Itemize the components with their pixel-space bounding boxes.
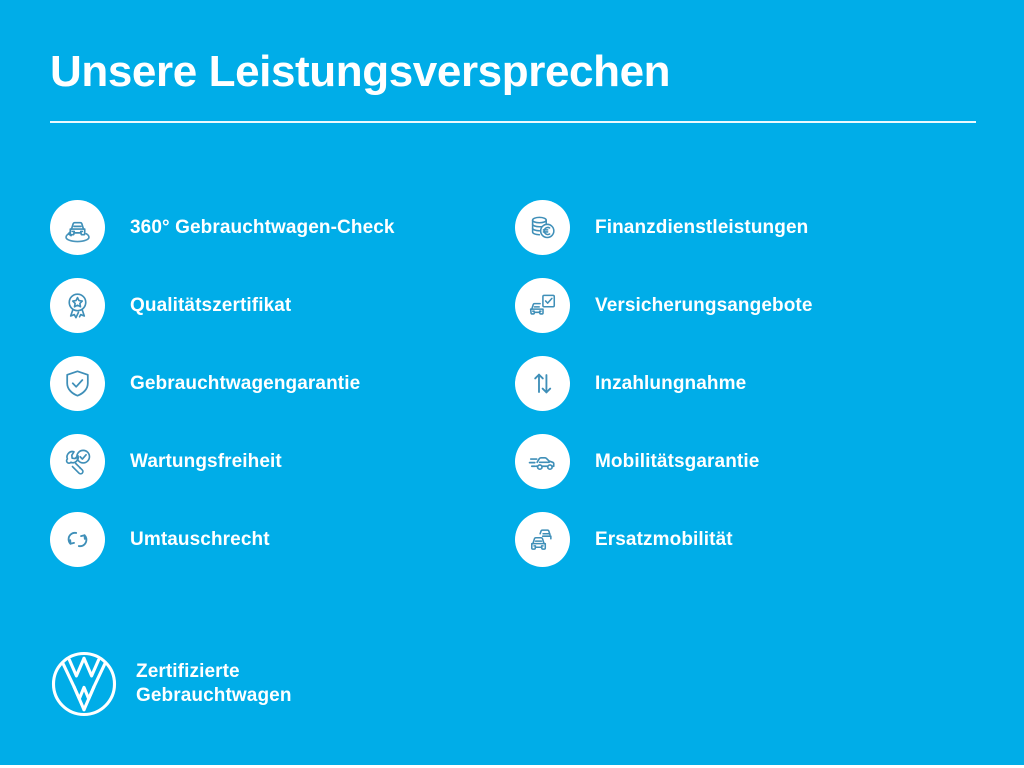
brand-text-line1: Zertifizierte bbox=[136, 660, 292, 684]
exchange-arrows-icon bbox=[50, 512, 105, 567]
car-document-check-icon bbox=[515, 278, 570, 333]
benefit-label: Wartungsfreiheit bbox=[130, 451, 282, 473]
coins-euro-icon bbox=[515, 200, 570, 255]
award-rosette-icon bbox=[50, 278, 105, 333]
volkswagen-logo-icon bbox=[50, 650, 118, 718]
wrench-check-icon bbox=[50, 434, 105, 489]
benefit-label: Ersatzmobilität bbox=[595, 529, 733, 551]
car-motion-icon bbox=[515, 434, 570, 489]
shield-check-icon bbox=[50, 356, 105, 411]
two-cars-icon bbox=[515, 512, 570, 567]
benefit-item-finanzdienstleistungen[interactable]: Finanzdienstleistungen bbox=[515, 200, 980, 255]
benefits-section: 360° Gebrauchtwagen-Check Qualitätszerti… bbox=[50, 200, 980, 567]
benefit-item-qualitaetszertifikat[interactable]: Qualitätszertifikat bbox=[50, 278, 515, 333]
header: Unsere Leistungsversprechen bbox=[50, 48, 976, 123]
up-down-arrows-icon bbox=[515, 356, 570, 411]
title-divider bbox=[50, 121, 976, 123]
brand-lockup: Zertifizierte Gebrauchtwagen bbox=[50, 650, 292, 718]
benefit-label: Mobilitätsgarantie bbox=[595, 451, 759, 473]
car-360-check-icon bbox=[50, 200, 105, 255]
benefit-item-360-check[interactable]: 360° Gebrauchtwagen-Check bbox=[50, 200, 515, 255]
benefit-label: Qualitätszertifikat bbox=[130, 295, 291, 317]
benefit-item-mobilitaetsgarantie[interactable]: Mobilitätsgarantie bbox=[515, 434, 980, 489]
benefit-label: 360° Gebrauchtwagen-Check bbox=[130, 217, 395, 239]
brand-text: Zertifizierte Gebrauchtwagen bbox=[136, 660, 292, 709]
benefit-label: Gebrauchtwagengarantie bbox=[130, 373, 360, 395]
benefit-label: Umtauschrecht bbox=[130, 529, 270, 551]
benefits-left-column: 360° Gebrauchtwagen-Check Qualitätszerti… bbox=[50, 200, 515, 567]
benefit-item-wartungsfreiheit[interactable]: Wartungsfreiheit bbox=[50, 434, 515, 489]
page-title: Unsere Leistungsversprechen bbox=[50, 48, 976, 96]
benefit-item-inzahlungnahme[interactable]: Inzahlungnahme bbox=[515, 356, 980, 411]
benefit-label: Inzahlungnahme bbox=[595, 373, 746, 395]
benefit-item-umtauschrecht[interactable]: Umtauschrecht bbox=[50, 512, 515, 567]
benefit-item-versicherungsangebote[interactable]: Versicherungsangebote bbox=[515, 278, 980, 333]
brand-text-line2: Gebrauchtwagen bbox=[136, 684, 292, 708]
slide-root: Unsere Leistungsversprechen 360° Gebrauc bbox=[0, 0, 1024, 768]
benefits-right-column: Finanzdienstleistungen Versicherungsange… bbox=[515, 200, 980, 567]
benefit-item-ersatzmobilitaet[interactable]: Ersatzmobilität bbox=[515, 512, 980, 567]
benefit-item-gebrauchtwagengarantie[interactable]: Gebrauchtwagengarantie bbox=[50, 356, 515, 411]
benefit-label: Finanzdienstleistungen bbox=[595, 217, 808, 239]
benefit-label: Versicherungsangebote bbox=[595, 295, 813, 317]
